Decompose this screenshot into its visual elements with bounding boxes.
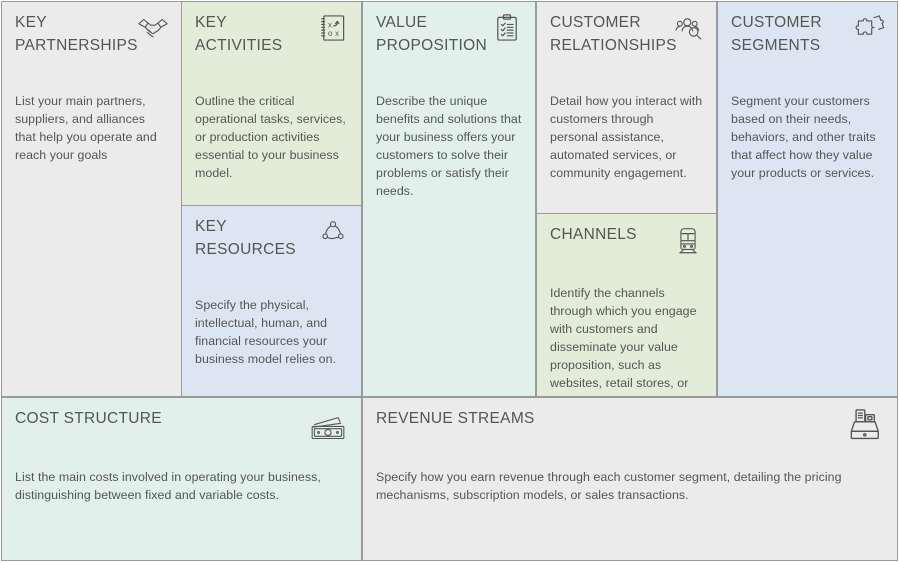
block-cost-structure[interactable]: COST STRUCTURE List the main costs invol… <box>1 397 362 561</box>
handshake-icon <box>136 11 170 45</box>
block-title: CUSTOMER RELATIONSHIPS <box>550 12 668 58</box>
block-body: Detail how you interact with customers t… <box>550 93 703 183</box>
block-title: REVENUE STREAMS <box>376 408 776 431</box>
block-body: Segment your customers based on their ne… <box>731 93 884 183</box>
cash-register-icon <box>845 406 883 444</box>
svg-text:o: o <box>328 29 332 38</box>
block-key-resources[interactable]: KEY RESOURCES Specify the physical, inte… <box>181 205 362 397</box>
block-title: VALUE PROPOSITION <box>376 12 494 58</box>
block-body: List the main costs involved in operatin… <box>15 469 348 505</box>
network-nodes-icon <box>316 215 350 249</box>
block-body: Outline the critical operational tasks, … <box>195 93 348 183</box>
block-customer-segments[interactable]: CUSTOMER SEGMENTS Segment your customers… <box>717 1 898 397</box>
puzzle-pieces-icon <box>852 11 886 45</box>
block-title: KEY PARTNERSHIPS <box>15 12 133 58</box>
svg-text:x: x <box>328 20 332 29</box>
banknotes-icon <box>309 414 347 444</box>
block-channels[interactable]: CHANNELS Identify the channels through w… <box>536 213 717 397</box>
block-title: CUSTOMER SEGMENTS <box>731 12 849 58</box>
tram-icon <box>671 223 705 257</box>
block-revenue-streams[interactable]: REVENUE STREAMS Specify how you earn rev… <box>362 397 898 561</box>
block-body: Identify the channels through which you … <box>550 285 703 397</box>
block-customer-relationships[interactable]: CUSTOMER RELATIONSHIPS Detail how you in… <box>536 1 717 214</box>
block-body: Specify the physical, intellectual, huma… <box>195 297 348 369</box>
block-key-activities[interactable]: KEY ACTIVITIES Outline the critical oper… <box>181 1 362 206</box>
svg-text:x: x <box>335 29 339 38</box>
block-key-partnerships[interactable]: KEY PARTNERSHIPS List your main partners… <box>1 1 182 397</box>
block-title: COST STRUCTURE <box>15 408 348 431</box>
block-body: Describe the unique benefits and solutio… <box>376 93 522 201</box>
block-title: KEY ACTIVITIES <box>195 12 313 58</box>
clipboard-checklist-icon <box>490 11 524 45</box>
strategy-playbook-icon: x o x <box>316 11 350 45</box>
business-model-canvas: KEY PARTNERSHIPS List your main partners… <box>0 0 900 563</box>
people-search-icon <box>671 11 705 45</box>
block-body: List your main partners, suppliers, and … <box>15 93 168 165</box>
block-title: KEY RESOURCES <box>195 216 313 262</box>
block-body: Specify how you earn revenue through eac… <box>376 469 884 505</box>
block-title: CHANNELS <box>550 224 668 247</box>
block-value-proposition[interactable]: VALUE PROPOSITION Describe the unique be… <box>362 1 536 397</box>
